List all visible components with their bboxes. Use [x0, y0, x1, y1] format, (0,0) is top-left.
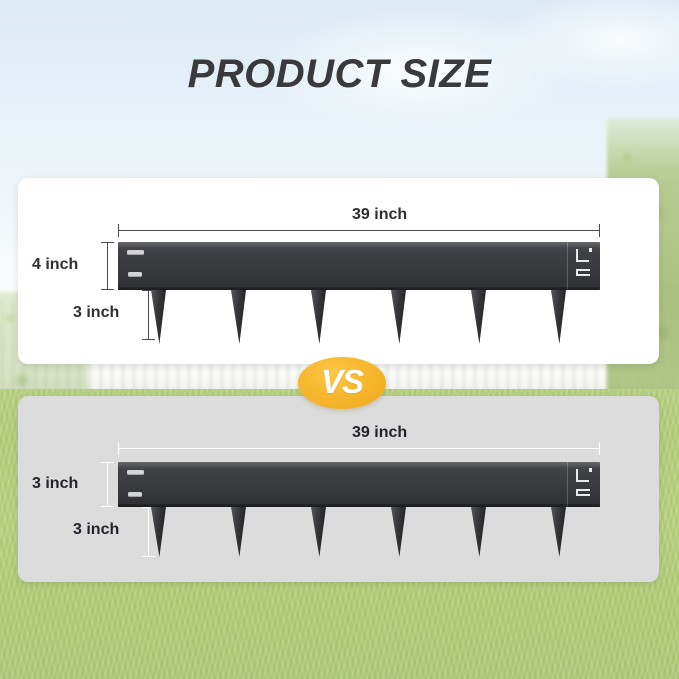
vs-badge-label: VS [298, 357, 386, 409]
spike [231, 507, 246, 557]
comparison-panel-our-product: 39 inch 4 inch 3 inch [18, 178, 659, 364]
length-label-top: 39 inch [352, 206, 407, 224]
dimension-cap-left [118, 224, 119, 237]
dimension-line [107, 242, 108, 290]
spike [311, 290, 326, 344]
mounting-slot [127, 470, 144, 475]
edging-bar [118, 242, 600, 290]
spike [311, 507, 326, 557]
dimension-cap-top [101, 242, 114, 243]
connector-bracket-icon [576, 249, 589, 262]
page-title: PRODUCT SIZE [0, 52, 679, 97]
connector-tab-icon [576, 489, 590, 496]
dimension-cap-bottom [101, 289, 114, 290]
connector-divider [567, 462, 568, 507]
spike [471, 507, 486, 557]
spike [231, 290, 246, 344]
vs-badge: VS [298, 357, 386, 409]
spike [151, 507, 166, 557]
spike-label-top: 3 inch [73, 304, 119, 322]
spike-row [118, 507, 600, 557]
dimension-cap-bottom [101, 506, 114, 507]
connector-tab-icon [576, 269, 590, 276]
connector-bracket-icon [576, 469, 589, 482]
dimension-line [107, 462, 108, 507]
spike-row [118, 290, 600, 344]
height-dimension-line-top [107, 242, 108, 290]
height-dimension-line-bottom [107, 462, 108, 507]
dimension-cap-right [599, 224, 600, 237]
dimension-cap-left [118, 442, 119, 455]
mounting-slot [128, 492, 142, 497]
length-dimension-line-bottom [118, 448, 600, 449]
spike [471, 290, 486, 344]
spike [391, 507, 406, 557]
height-label-bottom: 3 inch [32, 475, 78, 493]
connector-divider [567, 242, 568, 290]
spike-label-bottom: 3 inch [73, 521, 119, 539]
comparison-panel-other-product: 39 inch 3 inch 3 inch [18, 396, 659, 582]
edging-bar [118, 462, 600, 507]
dimension-cap-top [101, 462, 114, 463]
spike [151, 290, 166, 344]
spike [391, 290, 406, 344]
dimension-line [118, 230, 600, 231]
bar-highlight [118, 462, 600, 468]
length-dimension-line-top [118, 230, 600, 231]
product-size-infographic: PRODUCT SIZE 39 inch 4 inch [0, 0, 679, 679]
spike [551, 290, 566, 344]
dimension-line [118, 448, 600, 449]
bar-highlight [118, 242, 600, 248]
dimension-cap-right [599, 442, 600, 455]
mounting-slot [128, 272, 142, 277]
spike [551, 507, 566, 557]
height-label-top: 4 inch [32, 256, 78, 274]
length-label-bottom: 39 inch [352, 424, 407, 442]
mounting-slot [127, 250, 144, 255]
